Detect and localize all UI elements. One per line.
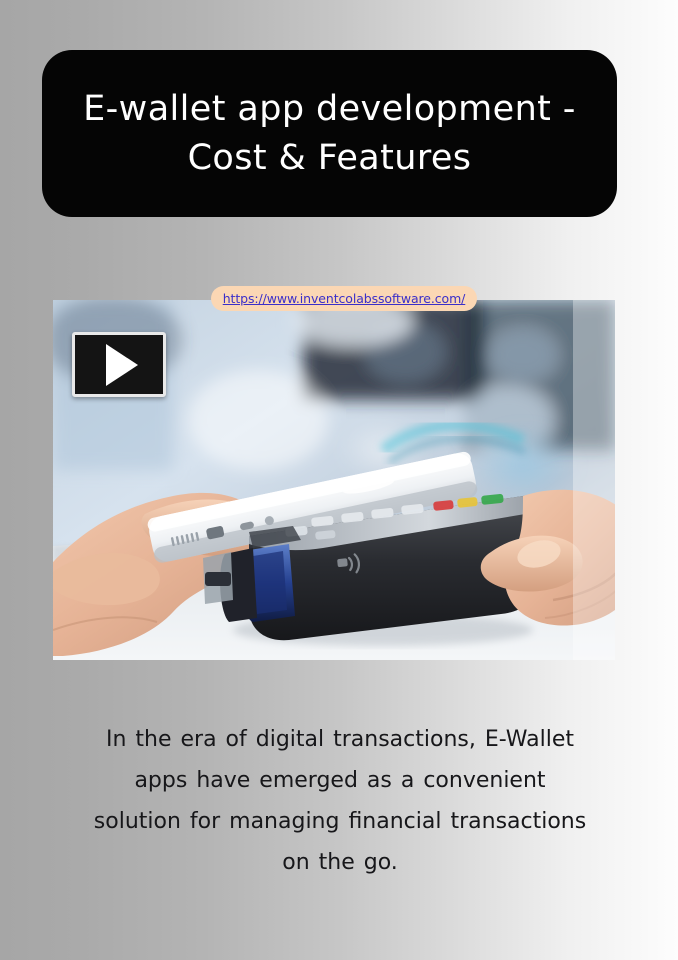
play-icon: [106, 344, 138, 386]
poster-canvas: E-wallet app development - Cost & Featur…: [0, 0, 678, 960]
title-line-1: E-wallet app development -: [83, 85, 576, 133]
body-paragraph: In the era of digital transactions, E-Wa…: [88, 720, 592, 884]
website-url-badge[interactable]: https://www.inventcolabssoftware.com/: [211, 286, 477, 311]
title-card: E-wallet app development - Cost & Featur…: [42, 50, 617, 217]
title-line-2: Cost & Features: [188, 134, 472, 182]
video-play-button[interactable]: [72, 332, 166, 397]
website-url-text[interactable]: https://www.inventcolabssoftware.com/: [223, 291, 466, 306]
